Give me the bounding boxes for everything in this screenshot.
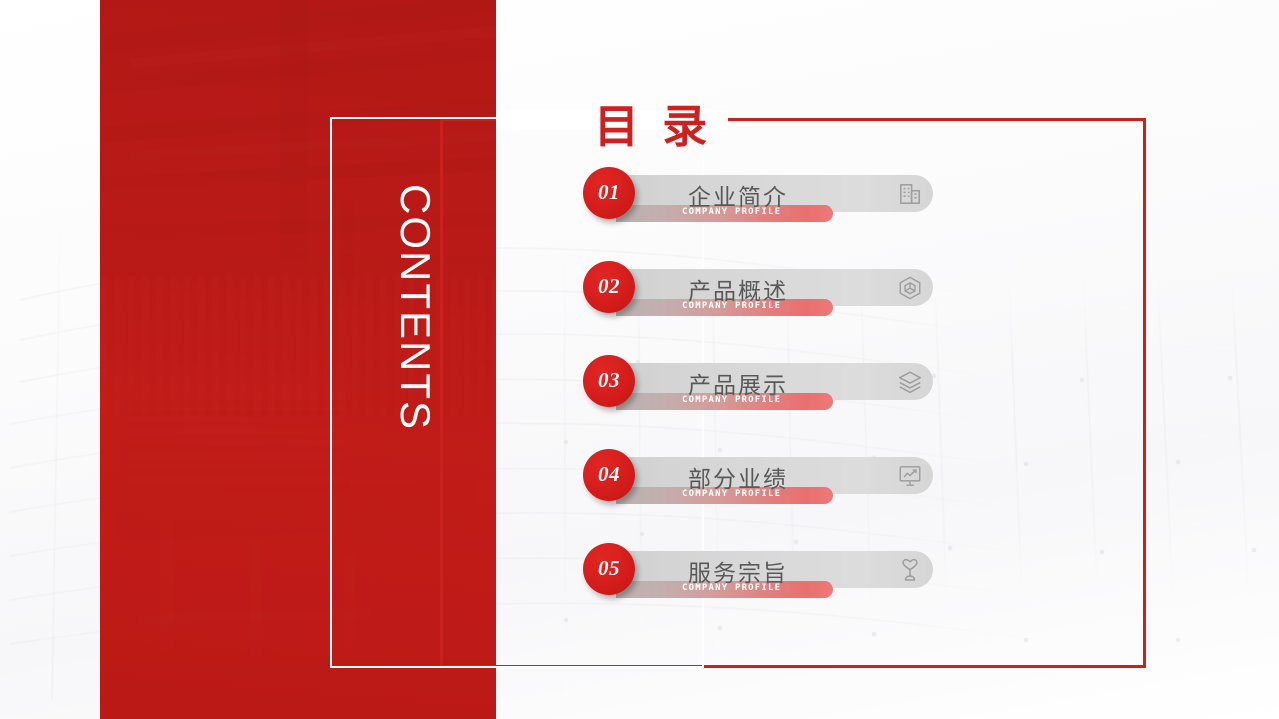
heart-award-icon bbox=[897, 557, 923, 583]
toc-number-badge: 03 bbox=[583, 355, 635, 407]
toc-number: 03 bbox=[583, 368, 635, 393]
toc-bar-group: COMPANY PROFILE 部分业绩 bbox=[608, 457, 933, 513]
toc-item-title: 产品概述 bbox=[688, 272, 788, 306]
toc-bar-group: COMPANY PROFILE 产品概述 bbox=[608, 269, 933, 325]
toc-number: 04 bbox=[583, 462, 635, 487]
toc-item-title: 部分业绩 bbox=[688, 460, 788, 494]
toc-bar-group: COMPANY PROFILE 服务宗旨 bbox=[608, 551, 933, 607]
presentation-chart-icon bbox=[897, 463, 923, 489]
toc-number-badge: 02 bbox=[583, 261, 635, 313]
toc-bar-group: COMPANY PROFILE 企业简介 bbox=[608, 175, 933, 231]
toc-bar-group: COMPANY PROFILE 产品展示 bbox=[608, 363, 933, 419]
page-title: 目 录 bbox=[594, 90, 713, 155]
toc-item-title: 产品展示 bbox=[688, 366, 788, 400]
toc-number: 02 bbox=[583, 274, 635, 299]
cube-hexagon-icon bbox=[897, 275, 923, 301]
toc-item-title: 企业简介 bbox=[688, 178, 788, 212]
toc-number-badge: 01 bbox=[583, 167, 635, 219]
toc-number: 01 bbox=[583, 180, 635, 205]
toc-item-title: 服务宗旨 bbox=[688, 554, 788, 588]
slide-canvas: CONTENTS 目 录 COMPANY PROFILE 企业简介 bbox=[0, 0, 1279, 719]
building-icon bbox=[897, 181, 923, 207]
toc-number-badge: 04 bbox=[583, 449, 635, 501]
layers-icon bbox=[897, 369, 923, 395]
toc-number: 05 bbox=[583, 556, 635, 581]
toc-number-badge: 05 bbox=[583, 543, 635, 595]
contents-vertical-label: CONTENTS bbox=[394, 184, 436, 431]
